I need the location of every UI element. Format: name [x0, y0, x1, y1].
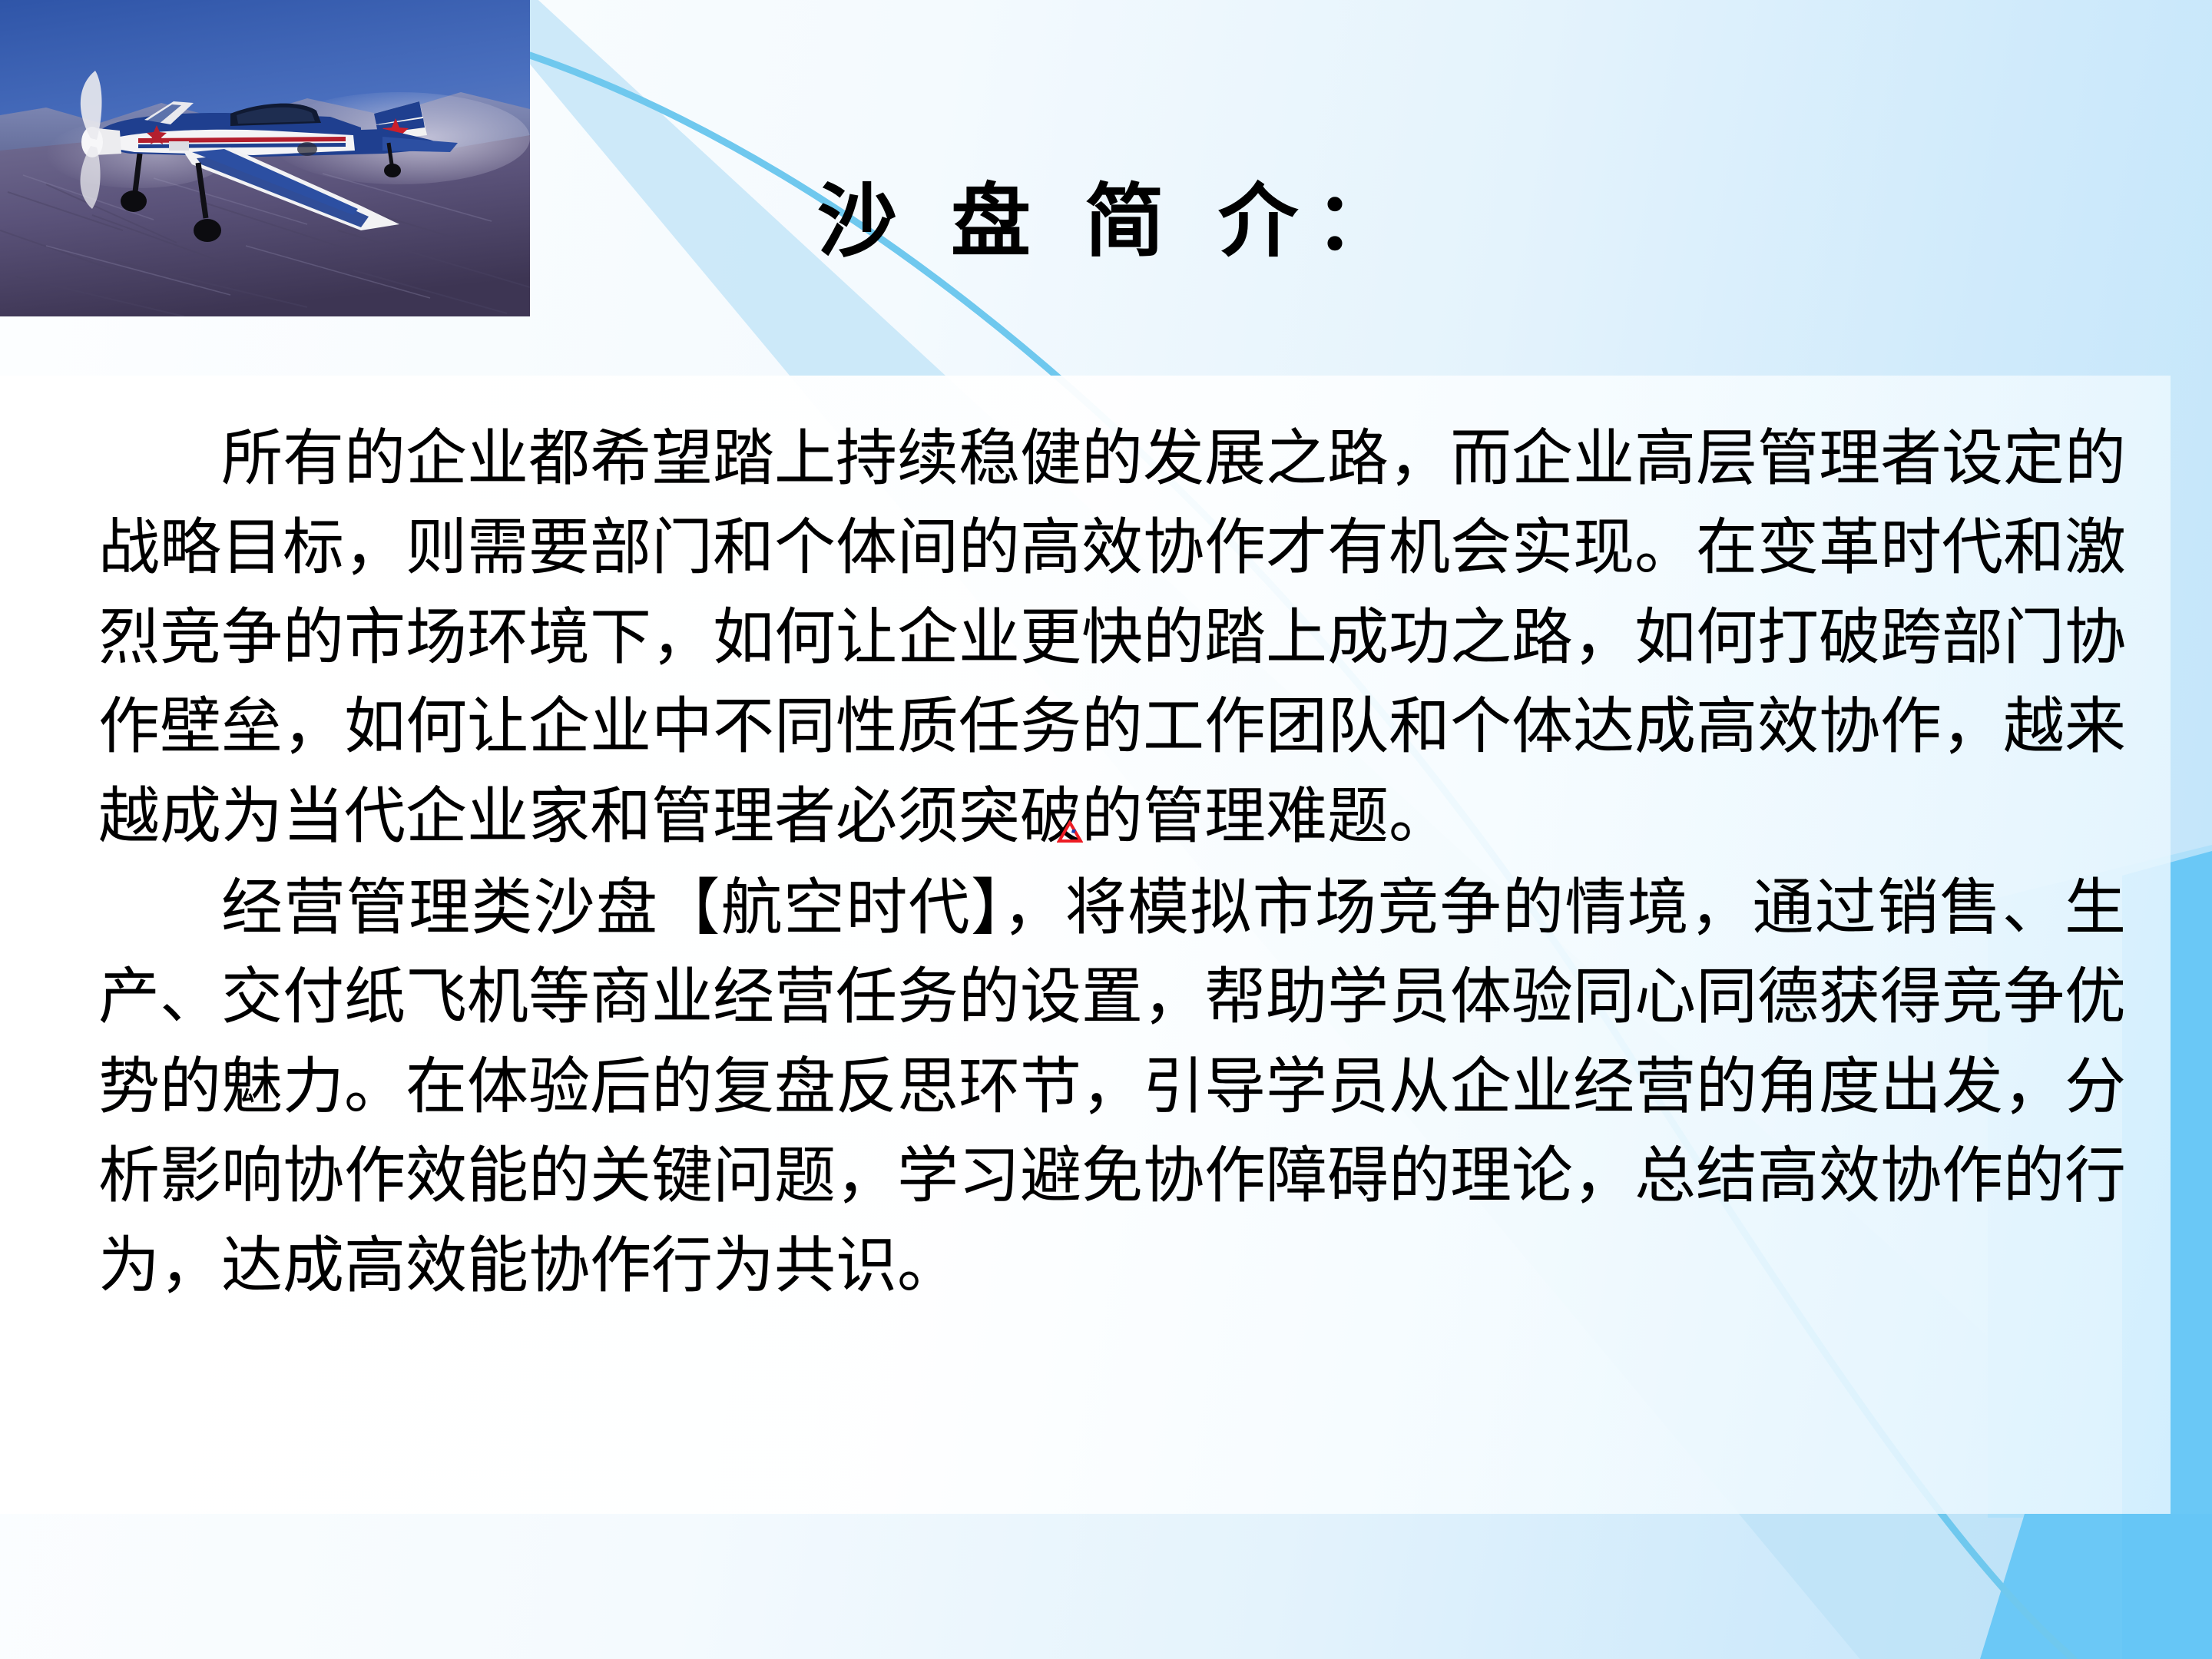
body-text-container: 所有的企业都希望踏上持续稳健的发展之路，而企业高层管理者设定的战略目标，则需要部…: [98, 415, 2126, 1311]
paragraph-1: 所有的企业都希望踏上持续稳健的发展之路，而企业高层管理者设定的战略目标，则需要部…: [98, 415, 2126, 862]
band-mid-bottom: [1980, 1514, 2212, 1659]
triangle-marker-icon: [1057, 820, 1083, 843]
paragraph-2: 经营管理类沙盘【航空时代】，将模拟市场竞争的情境，通过销售、生产、交付纸飞机等商…: [98, 864, 2126, 1311]
slide-canvas: 沙 盘 简 介： 所有的企业都希望踏上持续稳健的发展之路，而企业高层管理者设定的…: [0, 0, 2212, 1659]
page-title: 沙 盘 简 介：: [0, 175, 2212, 271]
